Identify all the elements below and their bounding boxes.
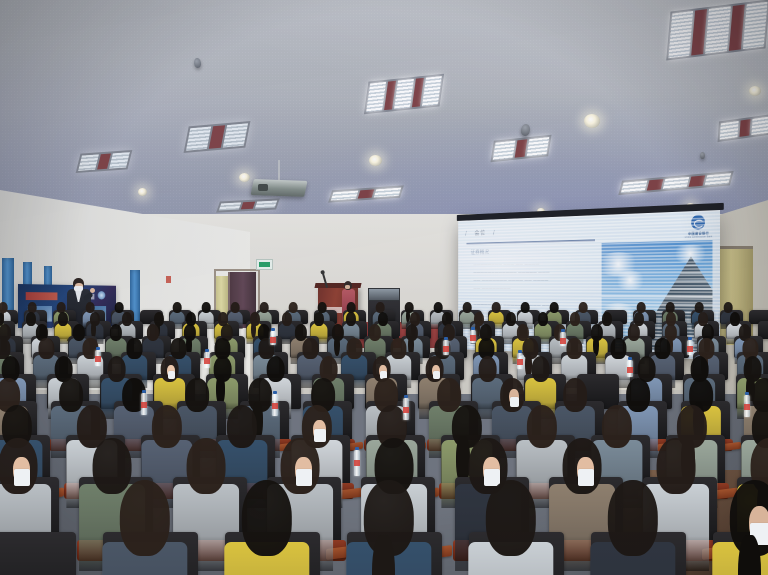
projector-lens-icon [258,184,268,191]
fluorescent-lamp [422,76,442,106]
audience-member [232,480,302,575]
audience-member-head [282,312,292,326]
audience-member-head [231,302,240,313]
audience-member-head [492,302,501,313]
bottle-label [354,460,360,466]
fluorescent-lamp [219,202,242,210]
audience-member-head [173,302,182,313]
audience-member [598,480,668,575]
water-bottle [744,395,750,417]
bottle-cap [518,350,522,353]
fire-alarm-icon [166,276,171,283]
bottle-cap [471,327,475,330]
audience-member-head [521,302,530,313]
bottle-cap [404,395,408,398]
audience-member-head [120,480,170,556]
water-bottle [687,340,693,355]
standing-speaker-hand [90,288,95,293]
fluorescent-lamp [223,123,248,147]
bottle-label [517,359,523,365]
bottle-label [443,346,449,352]
audience-member-head [531,356,550,382]
fluorescent-lamp [704,173,731,185]
audience-member-head [550,302,559,313]
ceiling-projector-mount [278,160,280,182]
water-bottle [141,393,147,415]
audience-member [354,480,424,575]
fluorescent-lamp [720,121,739,140]
bottle-label [141,402,147,408]
water-bottle [204,352,210,368]
fixture-reflector [241,202,255,210]
downlight-3 [239,173,250,182]
audience-member-head [628,324,640,341]
water-bottle [443,340,449,355]
fluorescent-lamp [705,6,730,53]
downlight-4 [138,188,147,196]
water-bottle [95,350,101,366]
bottle-cap [142,390,146,393]
audience-member [110,480,180,575]
bottle-cap [355,447,359,450]
fixture-reflector [514,139,527,158]
bottle-cap [271,328,275,331]
fluorescent-lamp [366,82,386,112]
audience-seating-area [0,300,768,575]
fluorescent-lamp [331,191,359,201]
audience-member-head [185,378,209,412]
audience-member-head [58,312,68,326]
fluorescent-lamp [662,177,689,189]
water-bottle [627,360,633,377]
fluorescent-lamp [394,79,414,109]
audience-member [720,480,768,575]
face-mask-icon [74,286,83,291]
fixture-reflector [689,175,705,186]
bottle-cap [561,329,565,332]
bottle-label [744,404,750,410]
bottle-label [95,356,101,362]
audience-member-head [369,324,381,341]
audience-member-head [186,438,225,494]
fluorescent-lamp [621,180,648,192]
bottle-cap [205,349,209,352]
audience-member-head [314,312,324,326]
audience-member-head [110,324,122,341]
audience-member-head [611,338,626,359]
fluorescent-lamp [186,126,211,150]
bottle-cap [96,347,100,350]
audience-member-head [346,312,356,326]
conference-room-photo: / 会位 / 中国建设银行 China Construction Bank 证券… [0,0,768,575]
water-bottle [272,394,278,416]
bottle-label [403,407,409,413]
fixture-reflector [647,179,663,190]
fluorescent-lamp [78,154,99,171]
audience-member-head [570,312,580,326]
fluorescent-lamp [109,152,130,169]
fluorescent-lamp [254,200,277,208]
bottle-label [270,337,276,343]
audience-member-head [608,480,658,556]
audience-member-head [202,302,211,313]
audience-member-head [147,324,159,341]
bottle-cap [273,391,277,394]
water-bottle [470,330,476,343]
audience-member-ponytail [334,336,340,356]
fixture-reflector [358,189,374,198]
bottle-cap [688,337,692,340]
audience-member [476,480,546,575]
audience-member-head [151,405,181,448]
bottle-cap [628,357,632,360]
fluorescent-lamp [527,137,549,156]
audience-member-head [538,312,548,326]
audience-member-head [526,405,556,448]
audience-member-head [478,356,497,382]
fixture-reflector [740,119,751,137]
fluorescent-lamp [668,11,693,58]
fluorescent-lamp [751,116,768,135]
audience-member-head [563,378,587,412]
audience-member-head [347,338,362,359]
water-bottle [403,398,409,420]
downlight-1 [584,114,600,128]
bottle-cap [444,337,448,340]
face-mask-icon [578,469,594,486]
light-fixture-troffer-4 [76,150,133,173]
banner-accent-strip [26,292,58,300]
audience-member-head [242,480,292,556]
auditorium-seat [0,532,76,575]
bottle-label [272,403,278,409]
audience-member-head [567,338,582,359]
banner-logo-icon [98,291,106,299]
bottle-label [687,346,693,352]
face-mask-icon [168,371,175,379]
bottle-label [470,335,476,341]
audience-member-head [486,480,536,556]
downlight-7 [749,86,761,96]
downlight-2 [369,155,382,166]
exit-sign [256,259,273,270]
ceiling-sensor [700,152,705,159]
bottle-label [204,358,210,364]
bottle-label [560,338,566,344]
fluorescent-lamp [374,188,402,198]
audience-member-head [463,302,472,313]
water-bottle [270,331,276,345]
bottle-label [627,367,633,373]
water-bottle [517,353,523,369]
fluorescent-lamp [742,2,767,49]
face-mask-icon [14,469,30,486]
fluorescent-lamp [493,141,515,160]
bottle-cap [745,392,749,395]
water-bottle [354,450,360,476]
face-mask-icon [510,397,520,407]
exit-sign-glyph [259,262,270,267]
water-bottle [560,332,566,346]
